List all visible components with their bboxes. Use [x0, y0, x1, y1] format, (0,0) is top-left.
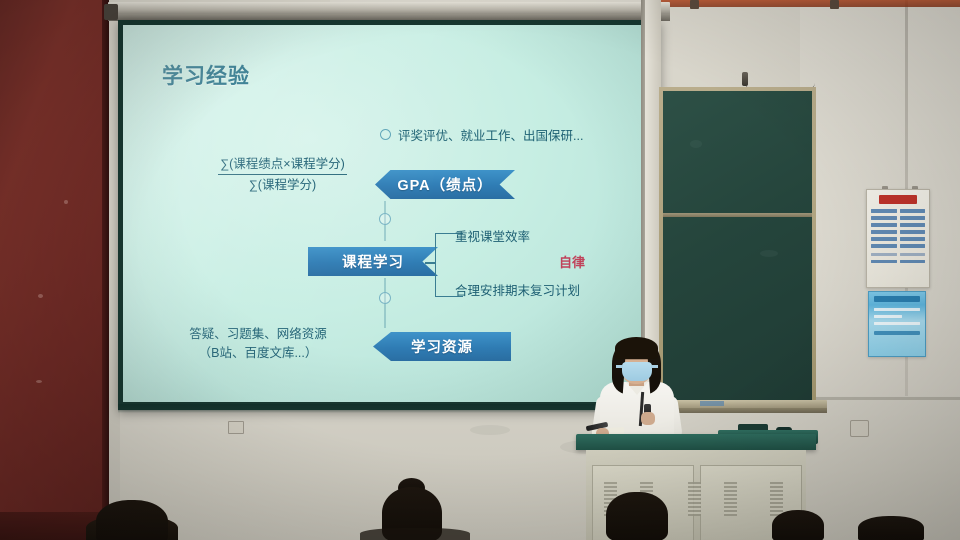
wall-scuff	[470, 425, 510, 435]
chalk-smudge	[760, 250, 778, 257]
lectern-vent	[724, 482, 737, 516]
presenter-hand-right	[641, 412, 655, 425]
eraser[interactable]	[700, 401, 724, 406]
wall-speck	[36, 380, 42, 383]
lectern-vent	[770, 482, 783, 516]
lectern-vent	[688, 482, 701, 516]
lectern-top	[576, 434, 816, 450]
resources-line-2: （B站、百度文库...）	[158, 344, 358, 363]
presenter-hair-top	[615, 337, 658, 359]
slide-title: 学习经验	[162, 60, 250, 90]
banner-learning-resources: 学习资源	[373, 332, 511, 361]
left-wall-panel	[0, 0, 108, 518]
circle-outline-bullet-icon	[380, 129, 391, 140]
pipe-clip	[690, 0, 699, 9]
wall-speck	[64, 200, 68, 204]
screen-bottom-bar	[118, 404, 661, 413]
mask-strap	[616, 365, 623, 368]
connector-node-icon	[379, 292, 391, 304]
banner-course-study: 课程学习	[308, 247, 438, 276]
presentation-slide: 学习经验 评奖评优、就业工作、出国保研... ∑(课程绩点×课程学分) ∑(课程…	[123, 25, 656, 402]
formula-numerator: ∑(课程绩点×课程学分)	[218, 155, 347, 175]
formula-denominator: ∑(课程学分)	[195, 175, 370, 194]
poster-header-band	[879, 195, 917, 204]
pipe-clip	[830, 0, 839, 9]
resources-description: 答疑、习题集、网络资源 （B站、百度文库...）	[158, 325, 358, 363]
slide-bullet-row: 评奖评优、就业工作、出国保研...	[380, 125, 583, 144]
left-panel-edge	[102, 0, 109, 518]
notice-poster-white	[866, 189, 930, 288]
audience-head	[96, 500, 168, 540]
wall-speck	[38, 294, 43, 298]
connector-node-icon	[379, 213, 391, 225]
poster-header-band	[874, 296, 920, 302]
blackboard	[663, 91, 812, 401]
chalk-smudge	[690, 140, 702, 148]
screen-rail-bracket	[104, 4, 118, 20]
mask-strap	[651, 365, 658, 368]
audience-head	[772, 510, 824, 540]
branch-text-efficiency: 重视课堂效率	[455, 226, 530, 245]
face-mask-icon	[622, 362, 652, 381]
lower-wall	[120, 396, 960, 540]
audience-shoulder	[360, 528, 470, 540]
blackboard-divider	[663, 213, 812, 217]
wall-socket[interactable]	[850, 420, 869, 437]
slide-bullet-text: 评奖评优、就业工作、出国保研...	[398, 125, 583, 144]
chalk-tray-lip	[655, 408, 827, 413]
branch-text-review-plan: 合理安排期末复习计划	[455, 280, 580, 299]
resources-line-1: 答疑、习题集、网络资源	[158, 325, 358, 344]
highlight-self-discipline: 自律	[559, 252, 585, 271]
audience-head	[858, 516, 924, 540]
classroom-scene: 学习经验 评奖评优、就业工作、出国保研... ∑(课程绩点×课程学分) ∑(课程…	[0, 0, 960, 540]
audience-head	[606, 492, 668, 540]
projection-screen: 学习经验 评奖评优、就业工作、出国保研... ∑(课程绩点×课程学分) ∑(课程…	[123, 25, 656, 402]
ceiling-pipe	[660, 0, 960, 7]
banner-gpa: GPA（绩点）	[375, 170, 515, 199]
gpa-formula: ∑(课程绩点×课程学分) ∑(课程学分)	[195, 155, 370, 194]
info-poster-blue	[868, 291, 926, 357]
wall-outlet-plate[interactable]	[228, 421, 244, 434]
